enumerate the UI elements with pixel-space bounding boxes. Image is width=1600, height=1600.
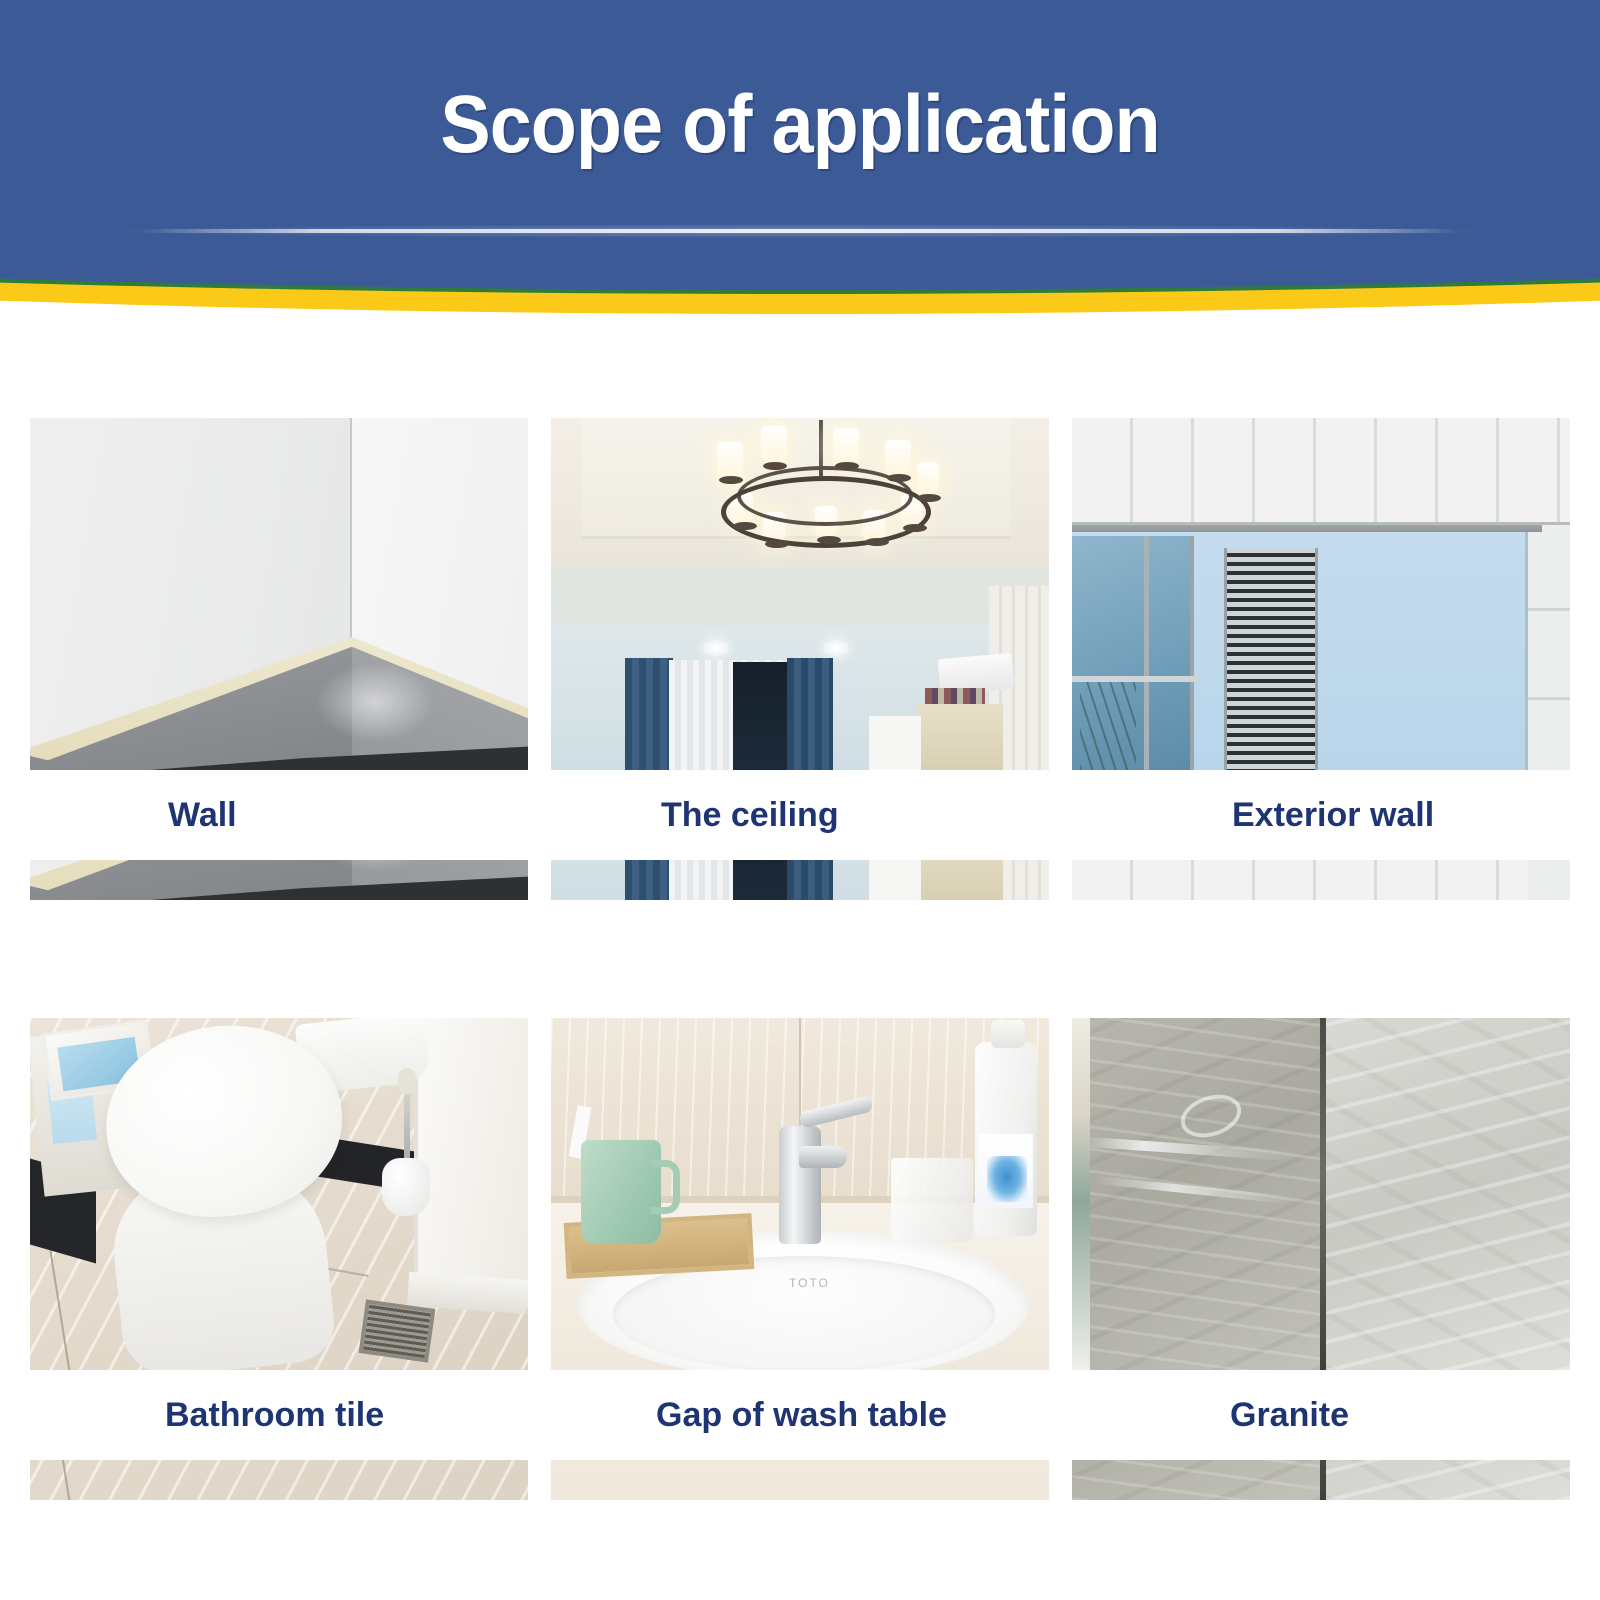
page-header: Scope of application bbox=[0, 0, 1600, 290]
door-mullion bbox=[1144, 536, 1149, 770]
grid-cell-granite: Granite bbox=[1072, 1018, 1570, 1500]
page-title: Scope of application bbox=[64, 78, 1536, 172]
photo-ceiling bbox=[551, 418, 1049, 770]
photo-strip-wall bbox=[30, 860, 528, 900]
soap-pump[interactable] bbox=[991, 1020, 1025, 1048]
chandelier-bulb bbox=[761, 426, 787, 464]
window-glass bbox=[733, 860, 789, 900]
photo-wash-table: TOTO bbox=[551, 1018, 1049, 1370]
scene-wall-corner-continued bbox=[30, 860, 528, 900]
green-cup bbox=[581, 1140, 661, 1244]
header-accent-band bbox=[0, 276, 1600, 328]
caption-wash-table: Gap of wash table bbox=[551, 1370, 1049, 1460]
downlight-icon bbox=[703, 640, 729, 656]
caption-wall: Wall bbox=[30, 770, 528, 860]
curtain-right bbox=[787, 658, 833, 770]
scene-wall-corner bbox=[30, 418, 528, 770]
vanity-cabinet bbox=[414, 1018, 528, 1300]
downlight-icon bbox=[823, 640, 849, 656]
grid-row-2: Bathroom tile TOTO bbox=[30, 1018, 1570, 1500]
photo-strip-exterior-wall bbox=[1072, 860, 1570, 900]
toilet-brush-holder bbox=[382, 1158, 430, 1216]
tile-column-right bbox=[1528, 522, 1570, 770]
chandelier-socket bbox=[763, 462, 787, 470]
plant-reflection bbox=[1080, 680, 1136, 770]
curtain-left bbox=[625, 658, 673, 770]
chandelier-socket bbox=[835, 462, 859, 470]
chandelier-socket bbox=[887, 474, 911, 482]
photo-strip-bathroom-tile bbox=[30, 1460, 528, 1500]
counter-top bbox=[551, 1460, 1049, 1500]
photo-exterior-wall bbox=[1072, 418, 1570, 770]
accent-band-yellow bbox=[0, 276, 1600, 328]
grid-cell-exterior-wall: Exterior wall bbox=[1072, 418, 1570, 900]
chandelier-bulb bbox=[917, 462, 939, 494]
chandelier-bulb bbox=[833, 428, 859, 466]
scene-wash-table: TOTO bbox=[551, 1018, 1049, 1370]
caption-granite: Granite bbox=[1072, 1370, 1570, 1460]
granite-slab-seam bbox=[1320, 1018, 1326, 1370]
sealant-strip bbox=[30, 630, 528, 770]
chandelier-socket bbox=[903, 524, 927, 532]
caption-ceiling: The ceiling bbox=[551, 770, 1049, 860]
cabinet bbox=[917, 704, 1003, 770]
granite-slab-right bbox=[1326, 1018, 1570, 1370]
window-glass bbox=[733, 662, 789, 770]
grid-cell-wall: Wall bbox=[30, 418, 528, 900]
grid-cell-ceiling: The ceiling bbox=[551, 418, 1049, 900]
tiled-floor bbox=[30, 1460, 528, 1500]
photo-wall bbox=[30, 418, 528, 770]
grid-cell-wash-table: TOTO Gap of wash table bbox=[551, 1018, 1049, 1500]
sink-brand-mark: TOTO bbox=[789, 1276, 830, 1290]
photo-strip-wash-table bbox=[551, 1460, 1049, 1500]
grid-row-1: Wall bbox=[30, 418, 1570, 900]
faucet-spout bbox=[799, 1146, 847, 1168]
white-appliance bbox=[869, 716, 921, 770]
scene-bathroom-tile bbox=[30, 1018, 528, 1370]
scene-ceiling-continued bbox=[551, 860, 1049, 900]
scene-exterior-wall bbox=[1072, 418, 1570, 770]
white-appliance bbox=[869, 860, 921, 900]
granite-edge-left bbox=[1072, 1018, 1090, 1370]
door-handle-rail bbox=[1072, 676, 1202, 682]
louver-vent bbox=[1224, 548, 1318, 770]
tile-column-right bbox=[1528, 860, 1570, 900]
chandelier-socket bbox=[817, 536, 841, 544]
soap-label-graphic bbox=[987, 1156, 1027, 1202]
chandelier-socket bbox=[917, 494, 941, 502]
faucet-body bbox=[779, 1126, 821, 1244]
chandelier-socket bbox=[733, 522, 757, 530]
scene-exterior-wall-continued bbox=[1072, 860, 1570, 900]
scene-wash-table-continued bbox=[551, 1460, 1049, 1500]
photo-strip-granite bbox=[1072, 1460, 1570, 1500]
floor-drain bbox=[359, 1299, 436, 1362]
curtain-right bbox=[787, 860, 833, 900]
granite-slab-right bbox=[1326, 1460, 1570, 1500]
chandelier-socket bbox=[865, 538, 889, 546]
chandelier-socket bbox=[719, 476, 743, 484]
granite-slab-left bbox=[1072, 1460, 1322, 1500]
tile-panel-row-lower bbox=[1072, 860, 1570, 900]
plastic-tumbler bbox=[891, 1158, 973, 1242]
granite-slab-seam bbox=[1320, 1460, 1326, 1500]
scene-ceiling-chandelier bbox=[551, 418, 1049, 770]
photo-bathroom-tile bbox=[30, 1018, 528, 1370]
photo-granite bbox=[1072, 1018, 1570, 1370]
cabinet bbox=[917, 860, 1003, 900]
floor-highlight bbox=[315, 860, 435, 872]
floor-highlight bbox=[315, 662, 435, 742]
chandelier-bulb bbox=[717, 442, 743, 480]
tile-panel-row bbox=[1072, 418, 1570, 525]
toilet-brush-knob bbox=[398, 1068, 416, 1094]
green-cup-handle bbox=[651, 1160, 680, 1214]
caption-bathroom-tile: Bathroom tile bbox=[30, 1370, 528, 1460]
scene-granite-slab bbox=[1072, 1018, 1570, 1370]
scene-granite-continued bbox=[1072, 1460, 1570, 1500]
grid-cell-bathroom-tile: Bathroom tile bbox=[30, 1018, 528, 1500]
chandelier-socket bbox=[765, 540, 789, 548]
curtain-left bbox=[625, 860, 673, 900]
chandelier-bulb bbox=[885, 440, 911, 478]
scene-bathroom-tile-continued bbox=[30, 1460, 528, 1500]
grid-row-spacer bbox=[30, 900, 1570, 1018]
application-scope-grid: Wall bbox=[30, 418, 1570, 1500]
photo-strip-ceiling bbox=[551, 860, 1049, 900]
caption-exterior-wall: Exterior wall bbox=[1072, 770, 1570, 860]
header-divider-line bbox=[140, 229, 1460, 233]
